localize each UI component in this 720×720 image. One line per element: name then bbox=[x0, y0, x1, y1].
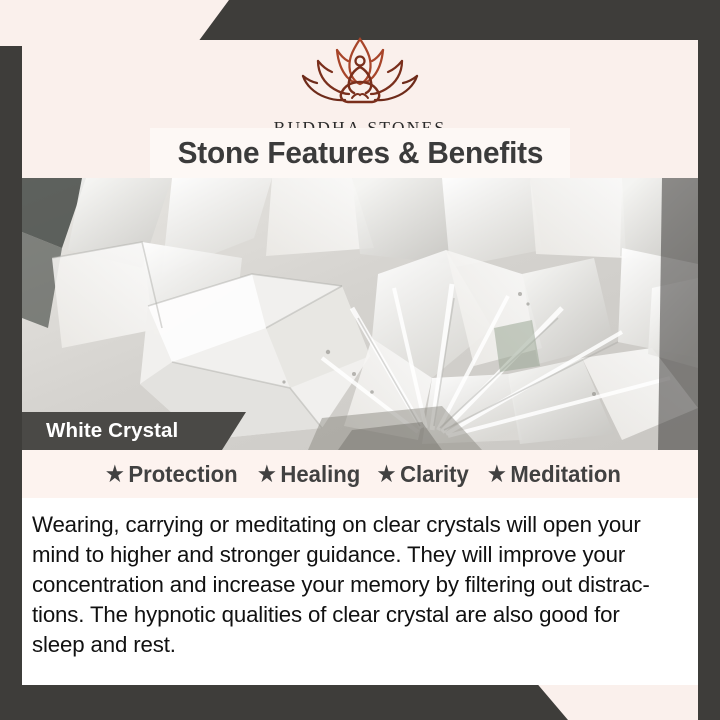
page-title: Stone Features & Benefits bbox=[177, 135, 543, 171]
benefit-item-meditation: ★ Meditation bbox=[481, 461, 621, 488]
brand-logo: BUDDHA STONES bbox=[22, 40, 698, 139]
content-card: BUDDHA STONES Stone Features & Benefits bbox=[22, 40, 698, 685]
benefits-row: ★ Protection ★ Healing ★ Clarity ★ Medit… bbox=[22, 450, 698, 498]
benefit-label: Clarity bbox=[400, 461, 469, 488]
photo-caption-label: White Crystal bbox=[46, 419, 178, 443]
brand-header: BUDDHA STONES Stone Features & Benefits bbox=[22, 40, 698, 180]
infographic-page: BUDDHA STONES Stone Features & Benefits bbox=[0, 0, 720, 720]
frame-band-left bbox=[0, 46, 22, 720]
frame-band-right bbox=[698, 0, 720, 720]
star-icon: ★ bbox=[106, 464, 124, 485]
description-text: Wearing, carrying or meditating on clear… bbox=[32, 510, 670, 660]
photo-caption-banner: White Crystal bbox=[22, 412, 246, 450]
star-icon: ★ bbox=[378, 464, 396, 485]
frame-band-bottom bbox=[0, 680, 568, 720]
star-icon: ★ bbox=[258, 464, 276, 485]
title-banner: Stone Features & Benefits bbox=[150, 128, 570, 178]
star-icon: ★ bbox=[488, 464, 506, 485]
benefit-item-clarity: ★ Clarity bbox=[370, 461, 469, 488]
description-block: Wearing, carrying or meditating on clear… bbox=[22, 498, 698, 685]
benefit-item-healing: ★ Healing bbox=[250, 461, 360, 488]
benefit-label: Protection bbox=[129, 461, 238, 488]
benefit-label: Healing bbox=[280, 461, 360, 488]
lotus-meditation-icon bbox=[285, 30, 435, 116]
white-crystal-cluster-photo: White Crystal bbox=[22, 178, 698, 450]
benefit-item-protection: ★ Protection bbox=[99, 461, 238, 488]
benefit-label: Meditation bbox=[511, 461, 621, 488]
